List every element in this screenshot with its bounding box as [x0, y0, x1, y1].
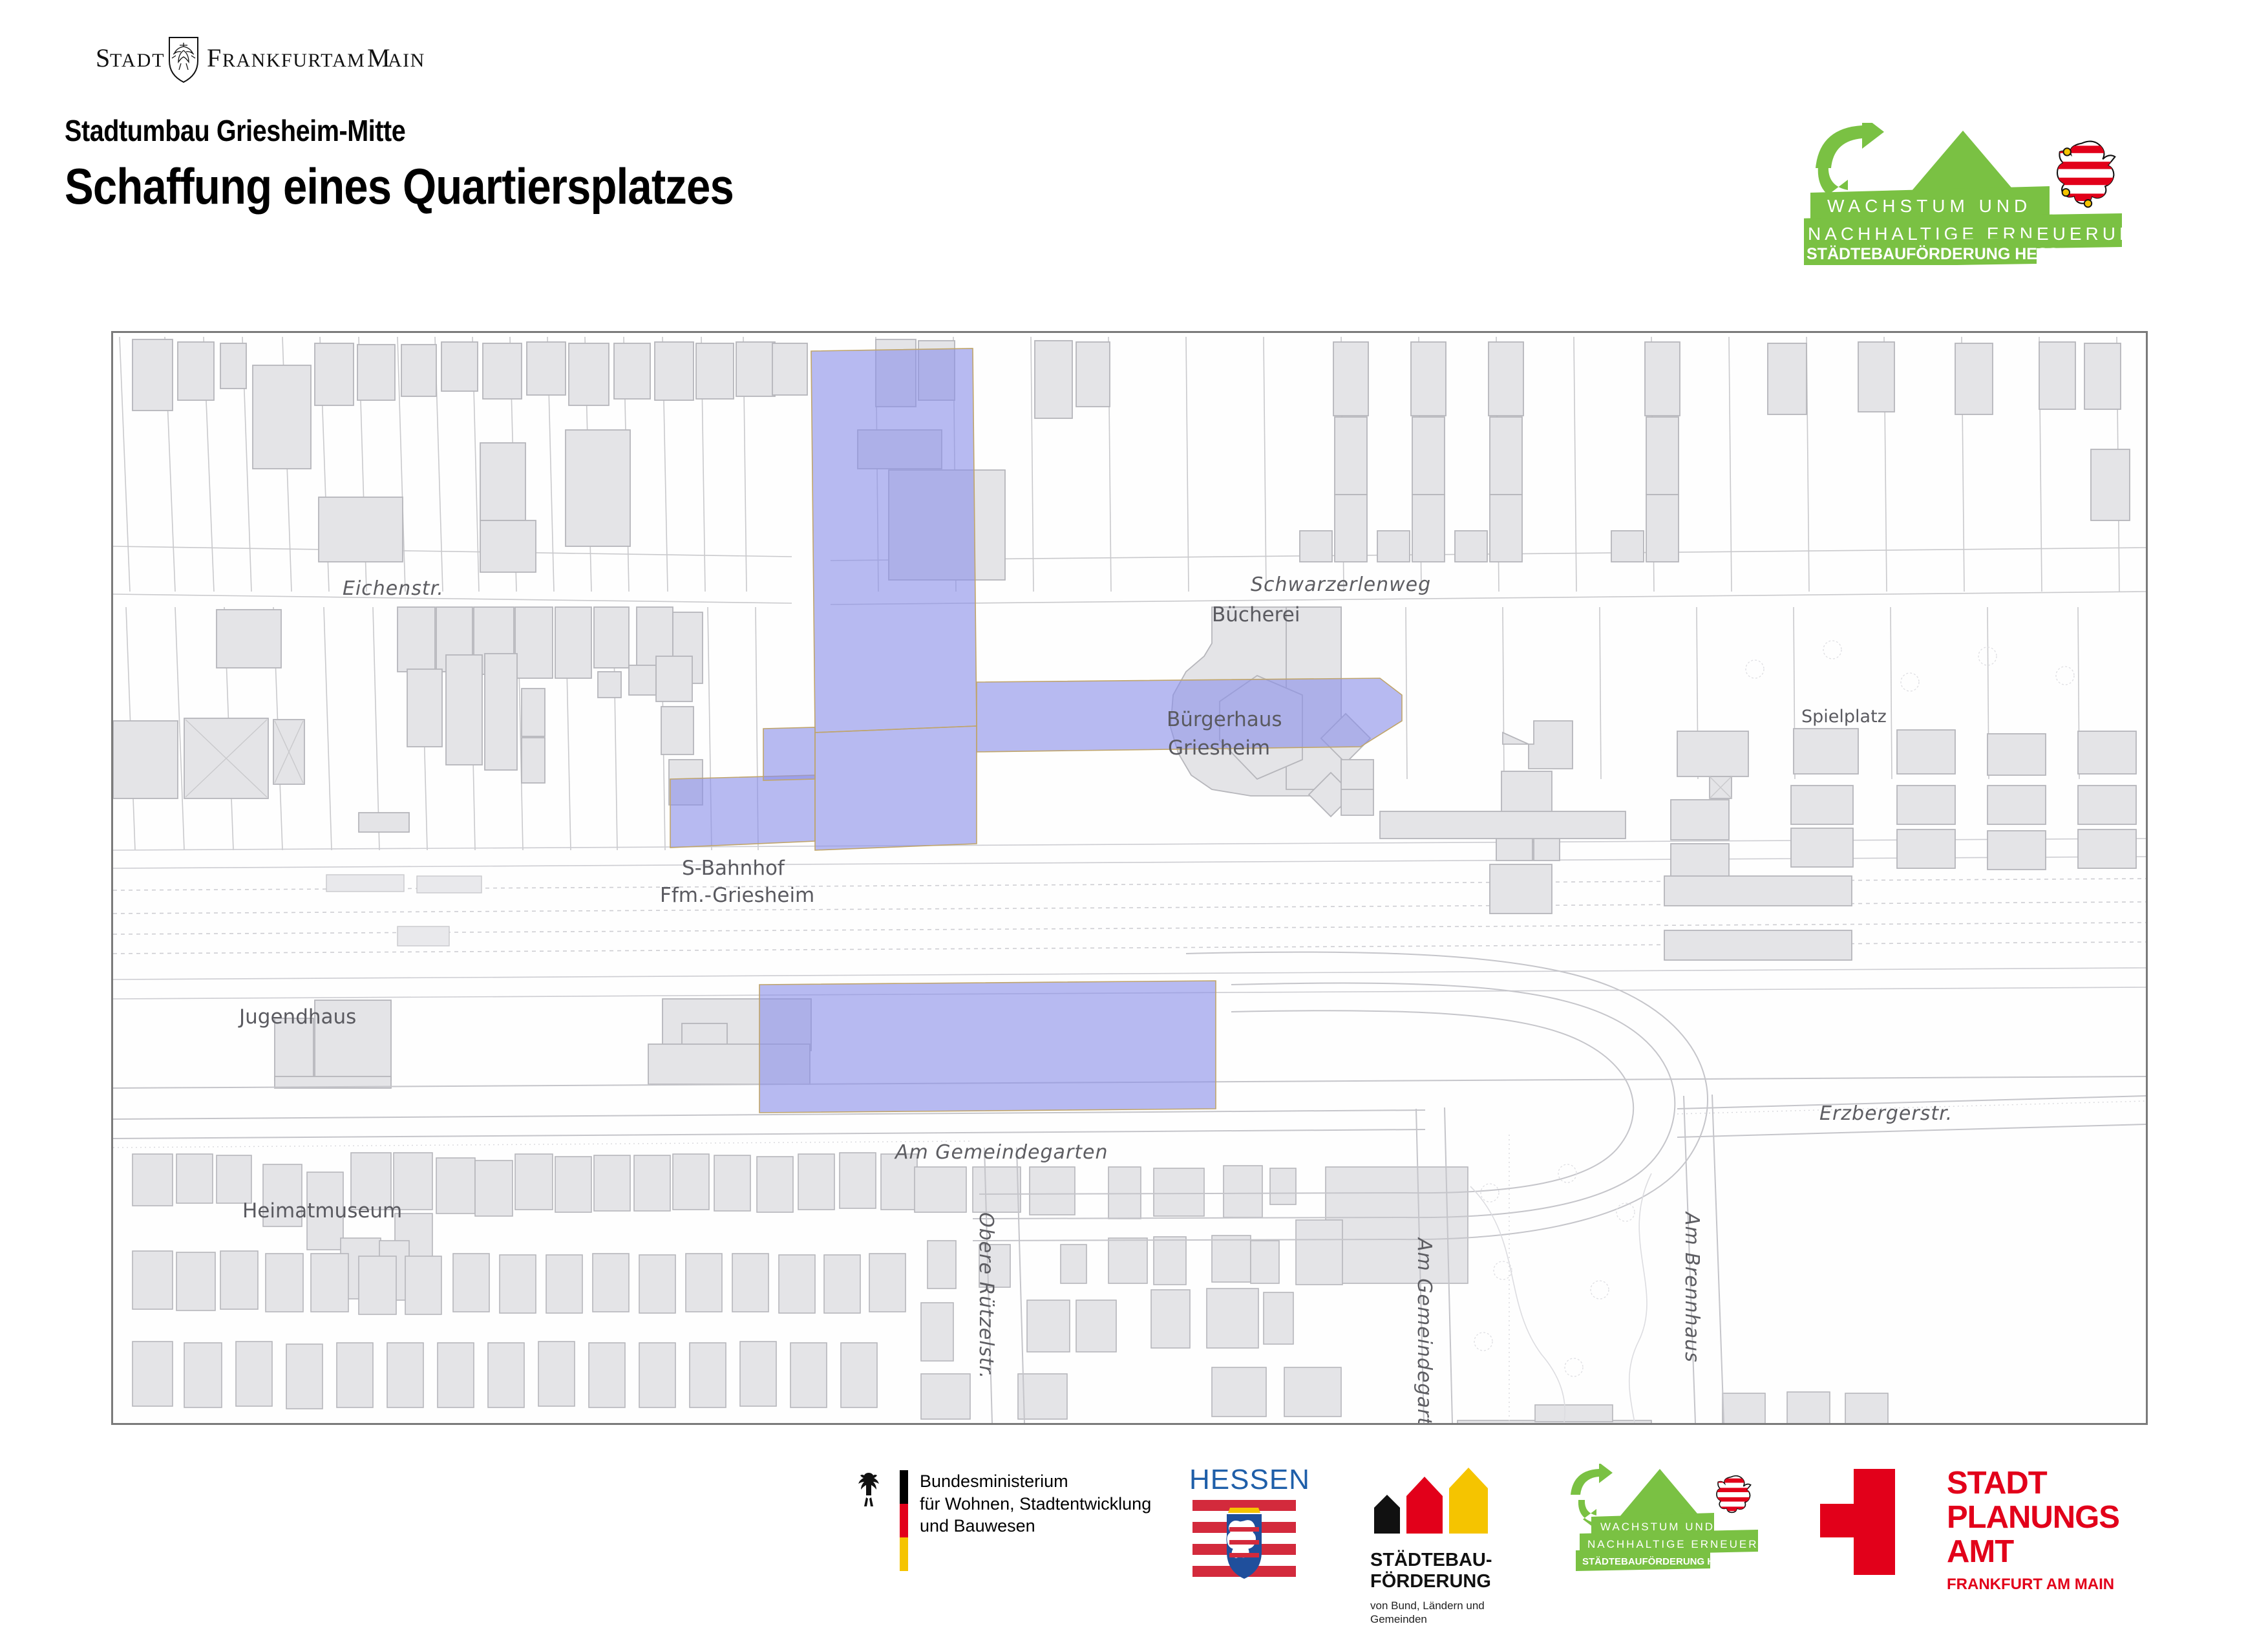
- bundesministerium-logo: Bundesministerium für Wohnen, Stadtentwi…: [852, 1470, 1151, 1571]
- spa-line1: STADT: [1947, 1466, 2119, 1501]
- svg-text:AM: AM: [332, 50, 365, 71]
- svg-text:RANKFURT: RANKFURT: [222, 50, 334, 71]
- spa-sub: FRANKFURT AM MAIN: [1947, 1576, 2119, 1594]
- page-subtitle: Stadtumbau Griesheim-Mitte: [65, 113, 1176, 148]
- spa-line3: AMT: [1947, 1535, 2119, 1569]
- svg-text:S: S: [96, 43, 111, 72]
- stadtplanungsamt-logo: STADT PLANUNGS AMT FRANKFURT AM MAIN: [1815, 1466, 2119, 1594]
- svg-text:AIN: AIN: [388, 50, 425, 71]
- wachstum-line1: WACHSTUM UND: [1827, 196, 2031, 216]
- bund-line3: und Bauwesen: [920, 1515, 1151, 1537]
- bundesadler-icon: [852, 1470, 885, 1509]
- staedtebau-line2: FÖRDERUNG: [1370, 1571, 1493, 1592]
- svg-text:TADT: TADT: [110, 50, 165, 71]
- bund-line1: Bundesministerium: [920, 1470, 1151, 1493]
- staedtebau-houses-icon: [1370, 1465, 1493, 1536]
- map-canvas: [113, 333, 2146, 1423]
- staedtebau-line1: STÄDTEBAU-: [1370, 1550, 1493, 1571]
- spa-line2: PLANUNGS: [1947, 1501, 2119, 1535]
- wachstum-footer-logo: WACHSTUM UND NACHHALTIGE ERNEUERUNG STÄD…: [1564, 1464, 1777, 1577]
- stadtplanungsamt-mark-icon: [1815, 1466, 1925, 1578]
- wachstum-footer-line3: STÄDTEBAUFÖRDERUNG HESSEN: [1582, 1556, 1747, 1567]
- staedtebau-sub1: von Bund, Ländern und: [1370, 1599, 1493, 1612]
- hessen-coat-of-arms-icon: [1189, 1499, 1299, 1589]
- staedtebaufoerderung-logo: STÄDTEBAU- FÖRDERUNG von Bund, Ländern u…: [1370, 1465, 1493, 1626]
- cadastral-map[interactable]: Eichenstr. Schwarzerlenweg Erzbergerstr.…: [111, 331, 2148, 1425]
- footer-logo-bar: Bundesministerium für Wohnen, Stadtentwi…: [0, 1455, 2268, 1584]
- wachstum-line3: STÄDTEBAUFÖRDERUNG HESSEN: [1807, 244, 2081, 263]
- page-main-title: Schaffung eines Quartiersplatzes: [65, 157, 1176, 216]
- german-flag-bar: [900, 1470, 908, 1571]
- svg-text:M: M: [367, 43, 390, 72]
- staedtebau-sub2: Gemeinden: [1370, 1612, 1493, 1626]
- wachstum-und-nachhaltige-erneuerung-logo: WACHSTUM UND NACHHALTIGE ERNEUERUNG STÄD…: [1804, 123, 2205, 265]
- hessen-wordmark: HESSEN: [1189, 1464, 1299, 1496]
- city-logo: S TADT F RANKFURT AM M AIN: [96, 31, 509, 83]
- svg-text:F: F: [207, 43, 221, 72]
- bund-line2: für Wohnen, Stadtentwicklung: [920, 1493, 1151, 1515]
- page-title: Stadtumbau Griesheim-Mitte Schaffung ein…: [65, 113, 1357, 216]
- hessen-logo: HESSEN: [1189, 1464, 1299, 1592]
